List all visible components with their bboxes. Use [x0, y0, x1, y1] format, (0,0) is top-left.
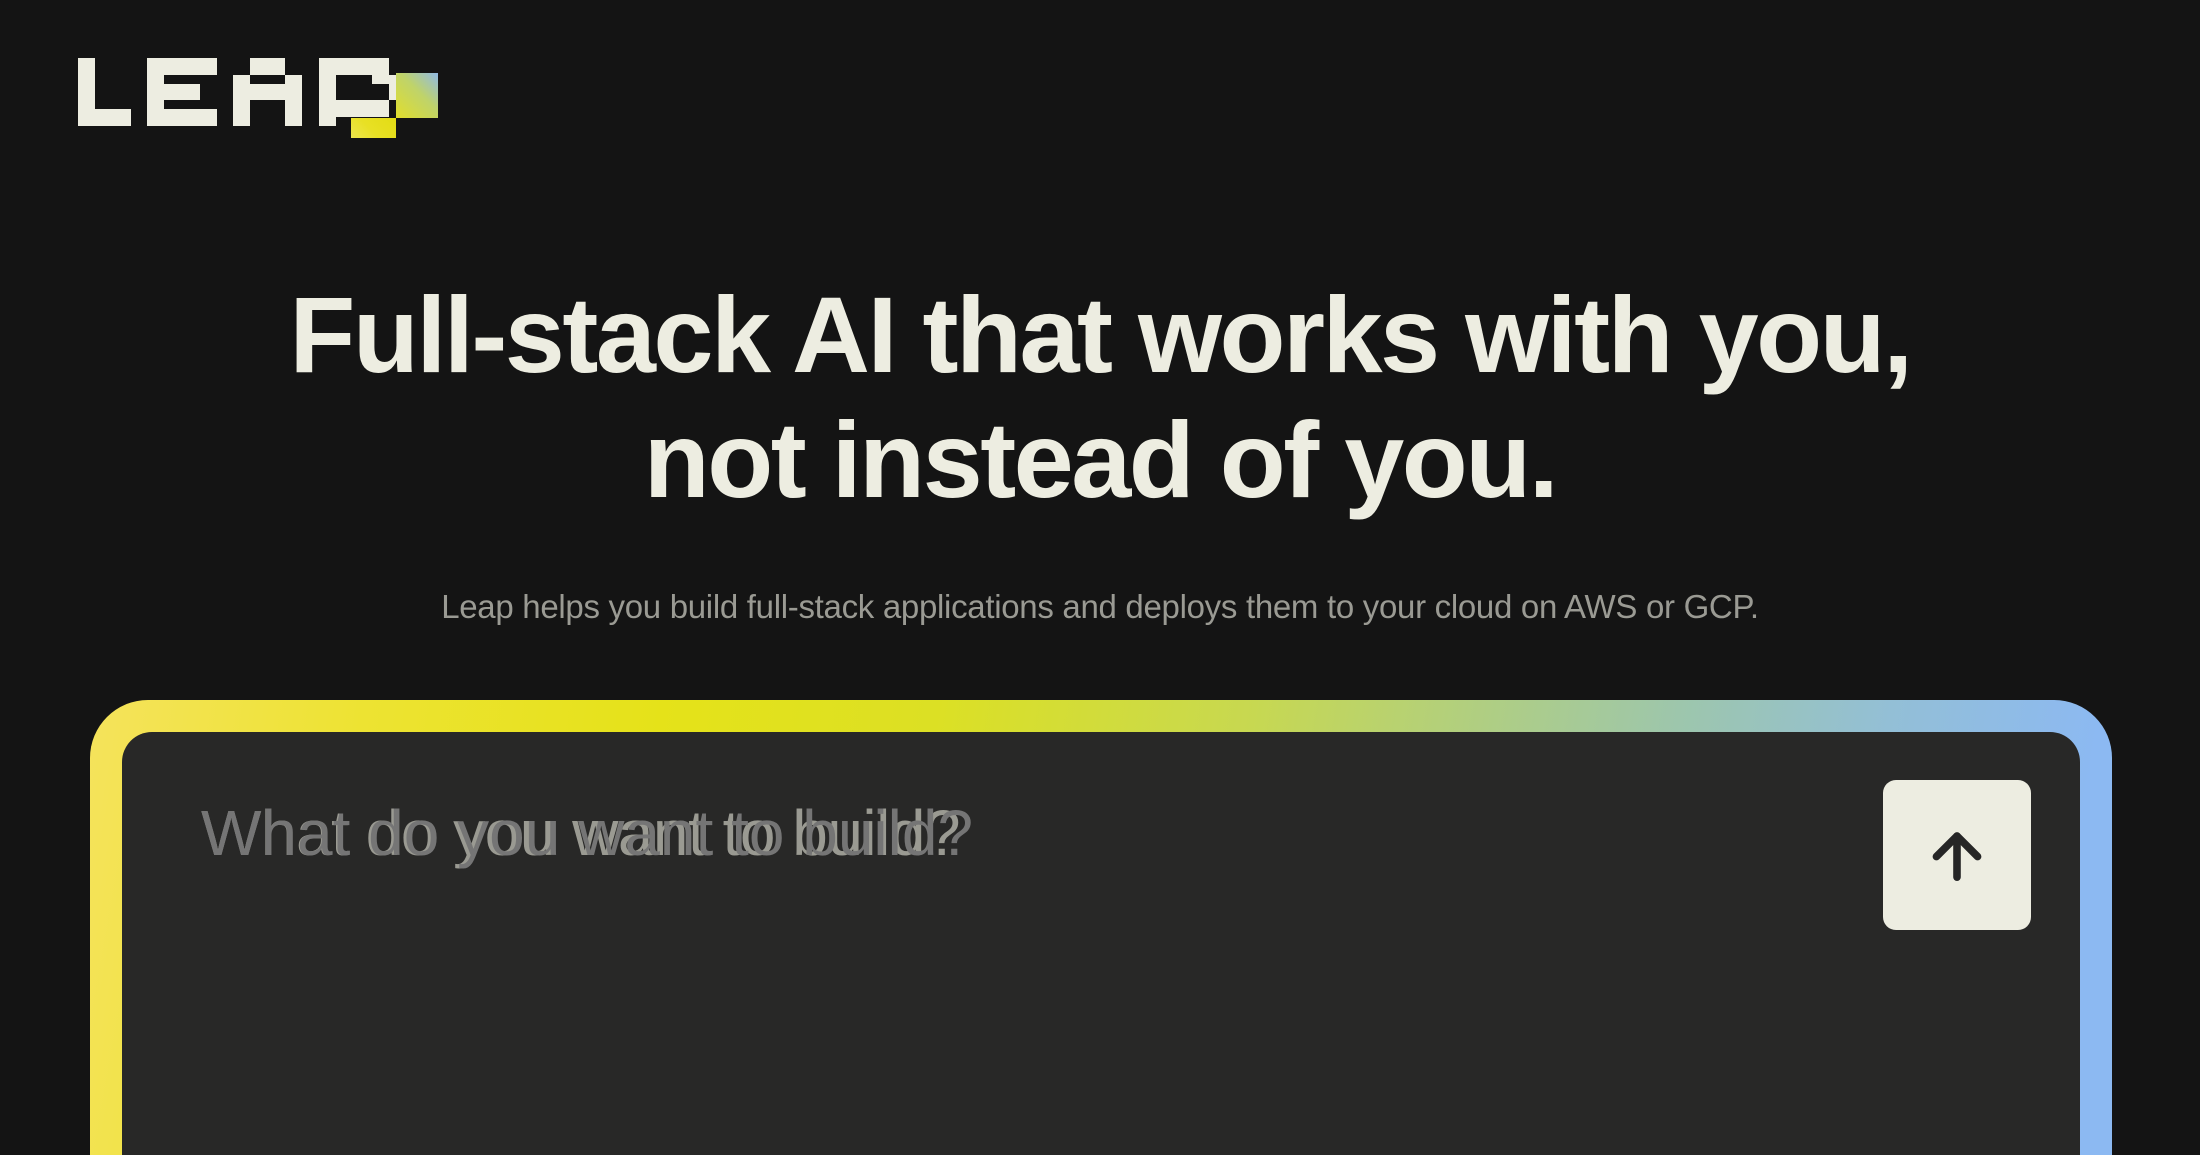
page-subtitle: Leap helps you build full-stack applicat…: [0, 588, 2200, 626]
brand-logo[interactable]: [78, 58, 438, 138]
prompt-box[interactable]: What do you want to build?: [122, 732, 2080, 1155]
submit-button[interactable]: [1883, 780, 2031, 930]
accent-square-upper: [396, 73, 438, 118]
landing-page: Full-stack AI that works with you, not i…: [0, 0, 2200, 1155]
prompt-gradient-border: What do you want to build?: [90, 700, 2112, 1155]
headline-line-2: not instead of you.: [0, 397, 2200, 522]
accent-square-lower: [351, 118, 396, 138]
leap-pixel-logo: [78, 58, 438, 138]
headline-line-1: Full-stack AI that works with you,: [0, 272, 2200, 397]
arrow-up-icon: [1919, 817, 1995, 893]
page-title: Full-stack AI that works with you, not i…: [0, 272, 2200, 523]
prompt-input[interactable]: [122, 732, 2080, 1155]
